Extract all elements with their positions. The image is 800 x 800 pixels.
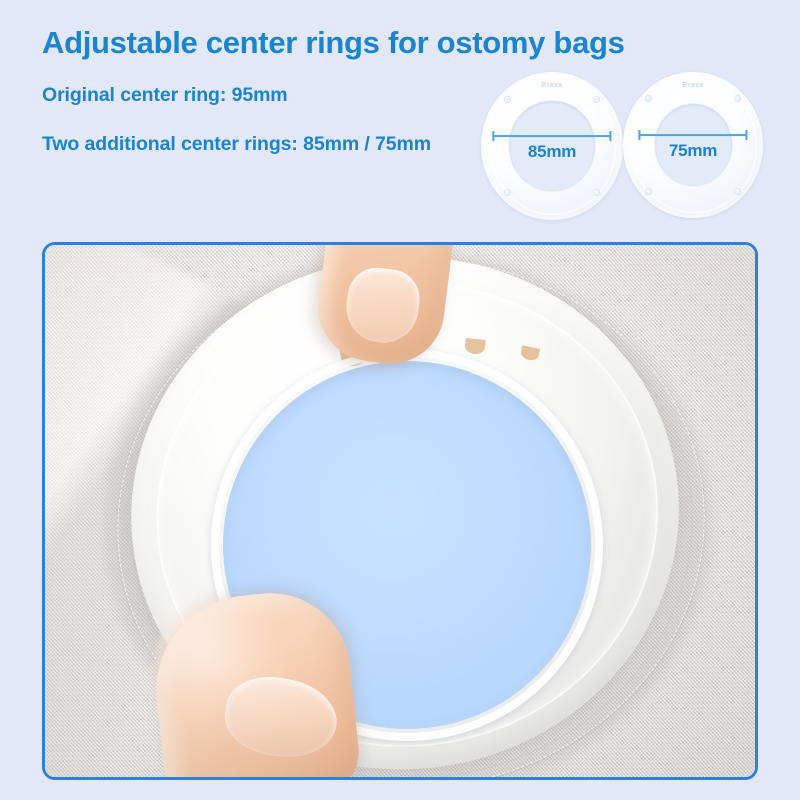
dimension-bar-icon — [638, 134, 747, 136]
dimension-annotation: 85mm — [492, 131, 611, 161]
dimension-line-icon — [638, 130, 747, 140]
dimension-cap-right-icon — [746, 130, 748, 140]
dimension-annotation: 75mm — [638, 130, 747, 160]
thumbnail-bottom — [220, 671, 342, 764]
ring-diagram-85mm: Brava 85mm — [481, 72, 623, 220]
ring-diagram-75mm: Brava 75mm — [623, 72, 763, 218]
ring-dimple-icon — [734, 188, 741, 195]
dimension-cap-right-icon — [610, 131, 612, 141]
product-photo — [42, 242, 758, 780]
infographic-page: Adjustable center rings for ostomy bags … — [0, 0, 800, 800]
ring-dimple-icon — [734, 95, 741, 102]
ring-illustrations: Brava 85mm Brava — [470, 72, 790, 232]
ring-emboss-text: Brava — [541, 82, 562, 89]
dimension-bar-icon — [492, 135, 611, 137]
ring-dimple-icon — [593, 96, 600, 103]
dimension-line-icon — [492, 131, 611, 141]
page-title: Adjustable center rings for ostomy bags — [42, 26, 562, 60]
ring-size-label-75mm: 75mm — [638, 142, 747, 160]
product-photo-inner — [45, 245, 755, 777]
ring-dimple-icon — [504, 96, 511, 103]
ring-size-label-85mm: 85mm — [492, 143, 611, 161]
fingernail-top — [342, 265, 422, 347]
ring-emboss-text: Brava — [682, 82, 703, 89]
